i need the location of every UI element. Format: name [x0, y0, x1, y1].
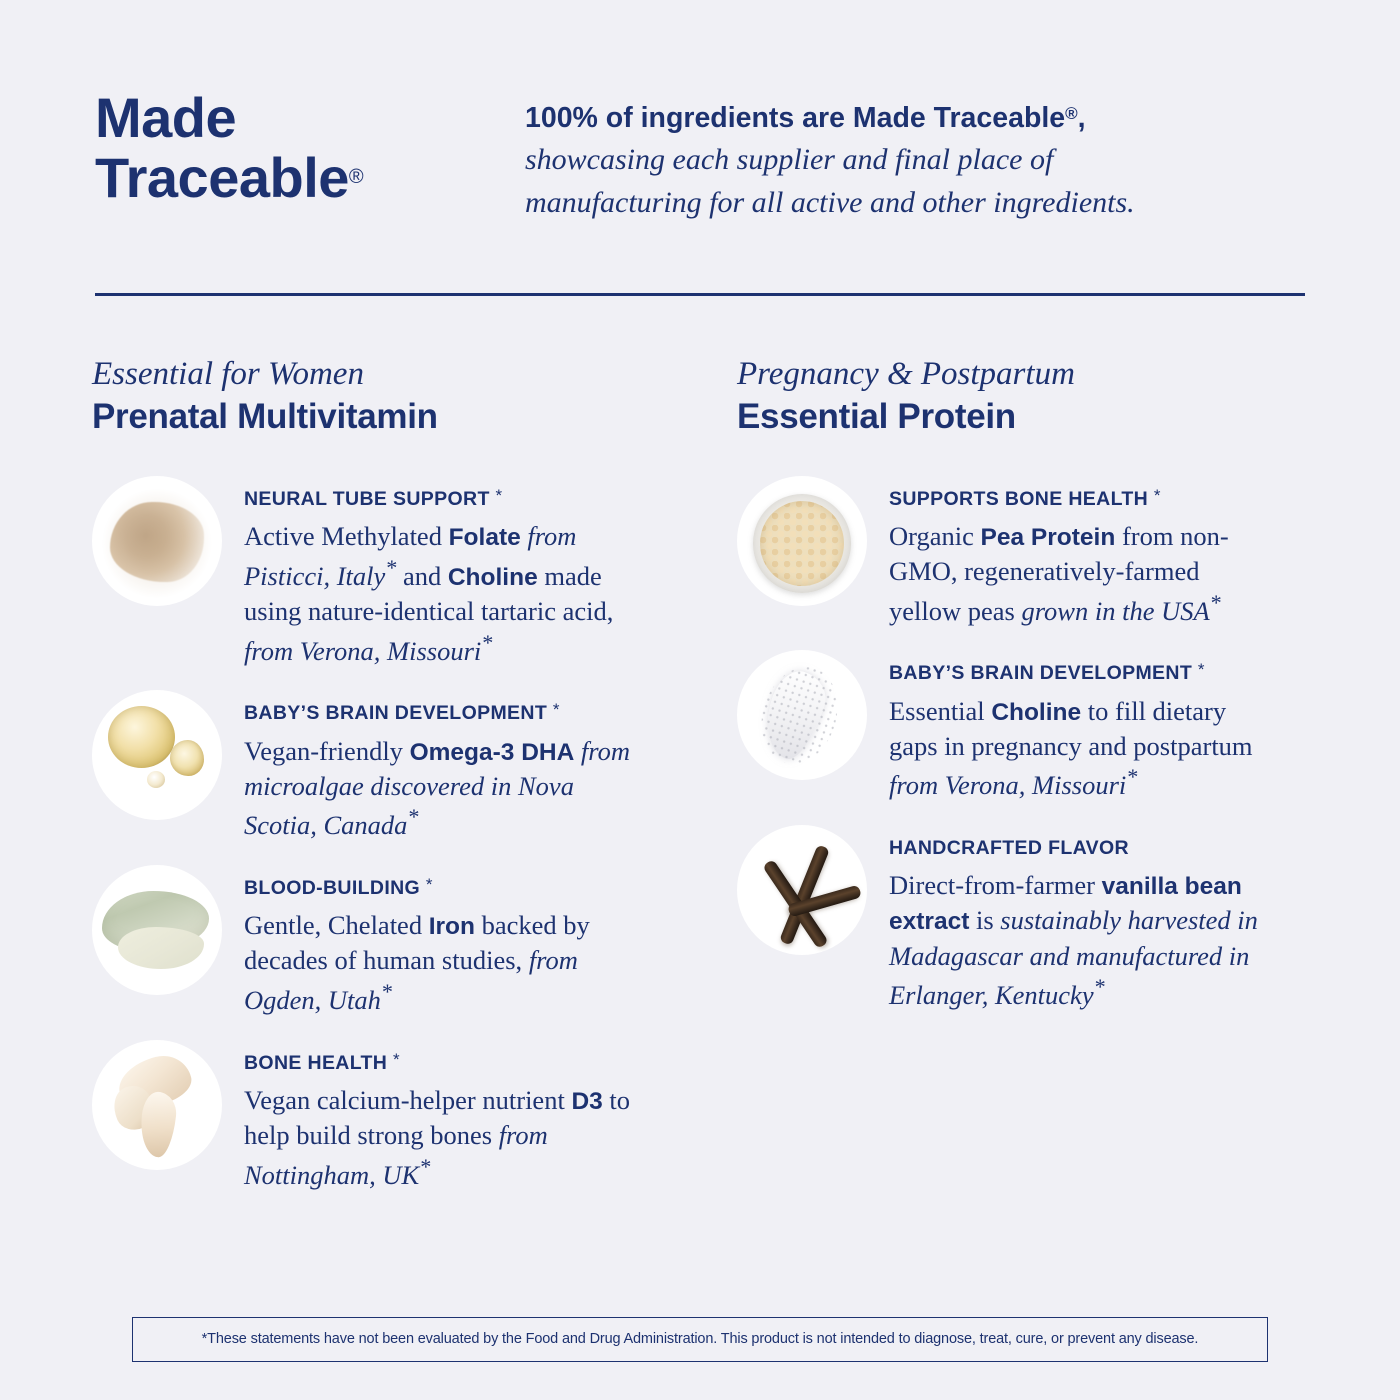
column-title: Prenatal Multivitamin: [92, 396, 737, 437]
header-divider: [95, 293, 1305, 296]
brand-title-text: Made Traceable: [95, 86, 349, 209]
column-prenatal-multivitamin: Essential for Women Prenatal Multivitami…: [92, 355, 737, 1214]
product-columns: Essential for Women Prenatal Multivitami…: [0, 355, 1400, 1214]
column-title: Essential Protein: [737, 396, 1382, 437]
item-kicker: SUPPORTS BONE HEALTH *: [889, 486, 1269, 511]
list-item: BABY’S BRAIN DEVELOPMENT * Essential Cho…: [737, 650, 1382, 803]
item-kicker-text: BONE HEALTH: [244, 1052, 387, 1074]
list-item: BONE HEALTH * Vegan calcium-helper nutri…: [92, 1040, 737, 1193]
oil-droplet-large: [108, 706, 176, 768]
brand-lockup: Made Traceable®: [95, 88, 525, 209]
benefit-list: NEURAL TUBE SUPPORT * Active Methylated …: [92, 476, 737, 1193]
asterisk-icon: *: [1198, 660, 1205, 679]
asterisk-icon: *: [1154, 486, 1161, 505]
bowl-shape: [753, 494, 852, 593]
item-thumbnail: [737, 825, 867, 955]
header-lead-tail: ,: [1078, 102, 1086, 134]
header-copy: 100% of ingredients are Made Traceable®,…: [525, 88, 1305, 223]
item-kicker: BLOOD-BUILDING *: [244, 875, 644, 900]
item-kicker: BABY’S BRAIN DEVELOPMENT *: [889, 660, 1269, 685]
item-body: BABY’S BRAIN DEVELOPMENT * Vegan-friendl…: [244, 690, 644, 843]
vanilla-bean: [787, 885, 862, 918]
column-eyebrow: Pregnancy & Postpartum: [737, 355, 1382, 393]
registered-mark-icon: ®: [1065, 104, 1078, 123]
brand-title: Made Traceable®: [95, 88, 525, 209]
item-thumbnail: [92, 1040, 222, 1170]
item-body: BLOOD-BUILDING * Gentle, Chelated Iron b…: [244, 865, 644, 1018]
item-thumbnail: [92, 865, 222, 995]
item-thumbnail: [737, 476, 867, 606]
header-lead-text: 100% of ingredients are Made Traceable: [525, 102, 1065, 134]
item-body: HANDCRAFTED FLAVOR Direct-from-farmer va…: [889, 825, 1269, 1013]
yellow-peas-bowl-icon: [737, 476, 867, 606]
item-kicker-text: NEURAL TUBE SUPPORT: [244, 488, 490, 510]
item-thumbnail: [92, 690, 222, 820]
item-kicker: BABY’S BRAIN DEVELOPMENT *: [244, 700, 644, 725]
asterisk-icon: *: [426, 875, 433, 894]
item-description: Vegan-friendly Omega-3 DHA from microalg…: [244, 734, 644, 843]
list-item: SUPPORTS BONE HEALTH * Organic Pea Prote…: [737, 476, 1382, 629]
column-essential-protein: Pregnancy & Postpartum Essential Protein…: [737, 355, 1382, 1214]
oil-droplet-small: [147, 771, 165, 788]
cream-splash-icon: [92, 1040, 222, 1170]
header-lead: 100% of ingredients are Made Traceable®,: [525, 98, 1305, 138]
item-body: BONE HEALTH * Vegan calcium-helper nutri…: [244, 1040, 644, 1193]
white-powder-icon: [737, 650, 867, 780]
item-kicker: BONE HEALTH *: [244, 1050, 644, 1075]
peas-fill: [760, 501, 845, 586]
disclaimer-box: *These statements have not been evaluate…: [132, 1317, 1268, 1362]
made-traceable-infographic: Made Traceable® 100% of ingredients are …: [0, 0, 1400, 1400]
cream-streak: [107, 1080, 161, 1136]
item-description: Gentle, Chelated Iron backed by decades …: [244, 908, 644, 1017]
asterisk-icon: *: [553, 700, 560, 719]
header-subline-1: showcasing each supplier and final place…: [525, 139, 1305, 180]
item-body: BABY’S BRAIN DEVELOPMENT * Essential Cho…: [889, 650, 1269, 803]
powder-beige-icon: [92, 476, 222, 606]
item-kicker-text: HANDCRAFTED FLAVOR: [889, 837, 1129, 859]
item-kicker-text: BABY’S BRAIN DEVELOPMENT: [889, 662, 1192, 684]
item-kicker: NEURAL TUBE SUPPORT *: [244, 486, 644, 511]
item-kicker-text: BABY’S BRAIN DEVELOPMENT: [244, 702, 547, 724]
list-item: NEURAL TUBE SUPPORT * Active Methylated …: [92, 476, 737, 669]
item-description: Essential Choline to fill dietary gaps i…: [889, 694, 1269, 803]
item-body: NEURAL TUBE SUPPORT * Active Methylated …: [244, 476, 644, 669]
asterisk-icon: *: [393, 1050, 400, 1069]
list-item: BABY’S BRAIN DEVELOPMENT * Vegan-friendl…: [92, 690, 737, 843]
vanilla-beans-icon: [737, 825, 867, 955]
item-description: Active Methylated Folate from Pisticci, …: [244, 519, 644, 668]
list-item: BLOOD-BUILDING * Gentle, Chelated Iron b…: [92, 865, 737, 1018]
header-subline-2: manufacturing for all active and other i…: [525, 182, 1305, 223]
item-thumbnail: [737, 650, 867, 780]
list-item: HANDCRAFTED FLAVOR Direct-from-farmer va…: [737, 825, 1382, 1013]
oil-droplet-medium: [170, 740, 204, 776]
sage-smear-icon: [92, 865, 222, 995]
item-thumbnail: [92, 476, 222, 606]
asterisk-icon: *: [496, 486, 503, 505]
item-body: SUPPORTS BONE HEALTH * Organic Pea Prote…: [889, 476, 1269, 629]
benefit-list: SUPPORTS BONE HEALTH * Organic Pea Prote…: [737, 476, 1382, 1013]
header: Made Traceable® 100% of ingredients are …: [95, 88, 1305, 223]
oil-droplets-icon: [92, 690, 222, 820]
disclaimer-text: *These statements have not been evaluate…: [149, 1331, 1251, 1348]
item-kicker: HANDCRAFTED FLAVOR: [889, 835, 1269, 860]
item-kicker-text: SUPPORTS BONE HEALTH: [889, 488, 1148, 510]
item-description: Direct-from-farmer vanilla bean extract …: [889, 868, 1269, 1012]
item-kicker-text: BLOOD-BUILDING: [244, 877, 420, 899]
registered-mark-icon: ®: [349, 166, 363, 188]
item-description: Organic Pea Protein from non-GMO, regene…: [889, 519, 1269, 628]
column-eyebrow: Essential for Women: [92, 355, 737, 393]
item-description: Vegan calcium-helper nutrient D3 to help…: [244, 1083, 644, 1192]
